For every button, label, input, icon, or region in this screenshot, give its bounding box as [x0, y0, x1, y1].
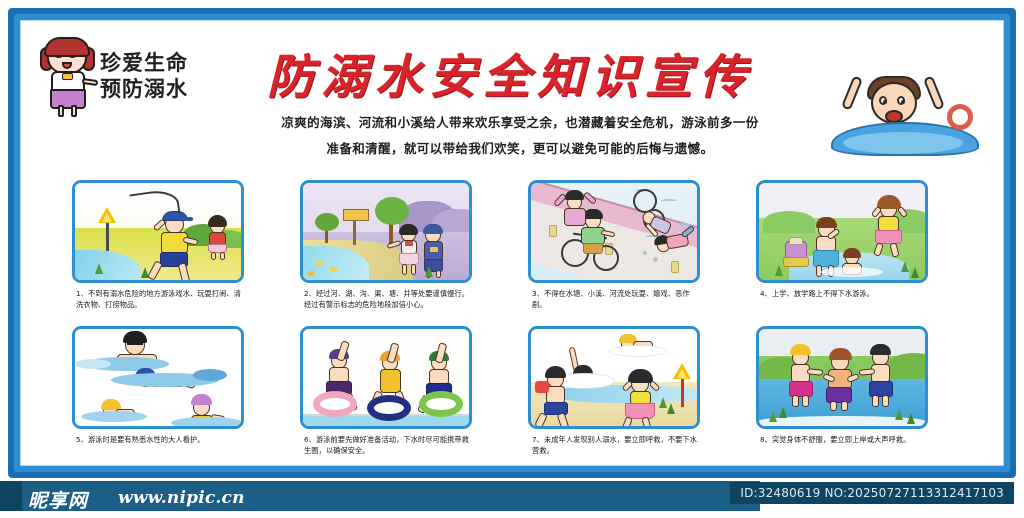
panel-6-caption: 6、游泳前要先做好准备活动，下水时尽可能携带救生圈，以确保安全。 [288, 434, 484, 456]
poster-title: 防溺水安全知识宣传 [200, 38, 820, 107]
image-id-badge: ID:32480619 NO:20250727113312417103 [730, 482, 1014, 504]
panel-2[interactable]: 2、经过河、湖、沟、渠、塘、井等处要谨慎慢行。经过有警示标志的危险地段加倍小心。 [288, 180, 484, 310]
subtitle-line-1: 凉爽的海滨、河流和小溪给人带来欢乐享受之余，也潜藏着安全危机，游泳前多一份 [225, 110, 815, 136]
panel-8[interactable]: 8、突觉身体不舒服，要立即上岸或大声呼救。 [744, 326, 940, 445]
panel-3-caption: 3、不得在水塘、小溪、河流处玩耍、嬉戏、恶作剧。 [516, 288, 712, 310]
poster-root: 珍爱生命 预防溺水 防溺水安全知识宣传 凉爽的海滨、河流和小溪给人带来欢乐享受之… [0, 0, 1024, 518]
watermark-site-name: 昵享网 [28, 486, 88, 513]
panel-6[interactable]: 6、游泳前要先做好准备活动，下水时尽可能携带救生圈，以确保安全。 [288, 326, 484, 456]
panel-1-illustration [72, 180, 244, 283]
logo-slogan: 珍爱生命 预防溺水 [100, 51, 188, 102]
panel-7[interactable]: 7、未成年人发现别人溺水，要立即呼救，不要下水营救。 [516, 326, 712, 456]
watermark-bar-accent [0, 481, 22, 511]
watermark-url[interactable]: www.nipic.cn [118, 488, 245, 508]
panel-5-caption: 5、游泳时是要有熟悉水性的大人看护。 [60, 434, 256, 445]
footer: 昵享网 www.nipic.cn ID:32480619 NO:20250727… [0, 478, 1024, 518]
panel-1[interactable]: 1、不到有溺水危险的地方游泳戏水、玩耍打闹、清洗衣物、打捞物品。 [60, 180, 256, 310]
panel-2-illustration [300, 180, 472, 283]
life-ring-navy [367, 395, 411, 421]
panel-grid: 1、不到有溺水危险的地方游泳戏水、玩耍打闹、清洗衣物、打捞物品。 [60, 180, 970, 465]
watermark-bar [0, 481, 760, 511]
panel-3-illustration [528, 180, 700, 283]
subtitle-line-2: 准备和清醒，就可以带给我们欢笑，更可以避免可能的后悔与遗憾。 [225, 136, 815, 162]
panel-5[interactable]: 5、游泳时是要有熟悉水性的大人看护。 [60, 326, 256, 445]
panel-6-illustration [300, 326, 472, 429]
poster-canvas: 珍爱生命 预防溺水 防溺水安全知识宣传 凉爽的海滨、河流和小溪给人带来欢乐享受之… [20, 20, 1004, 466]
logo-slogan-line2: 预防溺水 [100, 77, 188, 103]
poster-subtitle: 凉爽的海滨、河流和小溪给人带来欢乐享受之余，也潜藏着安全危机，游泳前多一份 准备… [225, 110, 815, 161]
panel-7-illustration [528, 326, 700, 429]
life-ring-green [419, 391, 463, 417]
panel-5-illustration [72, 326, 244, 429]
life-ring-icon [947, 104, 973, 130]
panel-8-caption: 8、突觉身体不舒服，要立即上岸或大声呼救。 [744, 434, 940, 445]
panel-4-illustration [756, 180, 928, 283]
life-ring-pink [313, 391, 357, 417]
panel-7-caption: 7、未成年人发现别人溺水，要立即呼救，不要下水营救。 [516, 434, 712, 456]
panel-3[interactable]: 3、不得在水塘、小溪、河流处玩耍、嬉戏、恶作剧。 [516, 180, 712, 310]
mascot-girl-icon [38, 37, 96, 117]
panel-1-caption: 1、不到有溺水危险的地方游泳戏水、玩耍打闹、清洗衣物、打捞物品。 [60, 288, 256, 310]
panel-8-illustration [756, 326, 928, 429]
drowning-boy-icon [825, 70, 985, 160]
panel-4[interactable]: 4、上学、放学路上不得下水游泳。 [744, 180, 940, 299]
logo-slogan-line1: 珍爱生命 [100, 51, 188, 77]
panel-2-caption: 2、经过河、湖、沟、渠、塘、井等处要谨慎慢行。经过有警示标志的危险地段加倍小心。 [288, 288, 484, 310]
panel-4-caption: 4、上学、放学路上不得下水游泳。 [744, 288, 940, 299]
